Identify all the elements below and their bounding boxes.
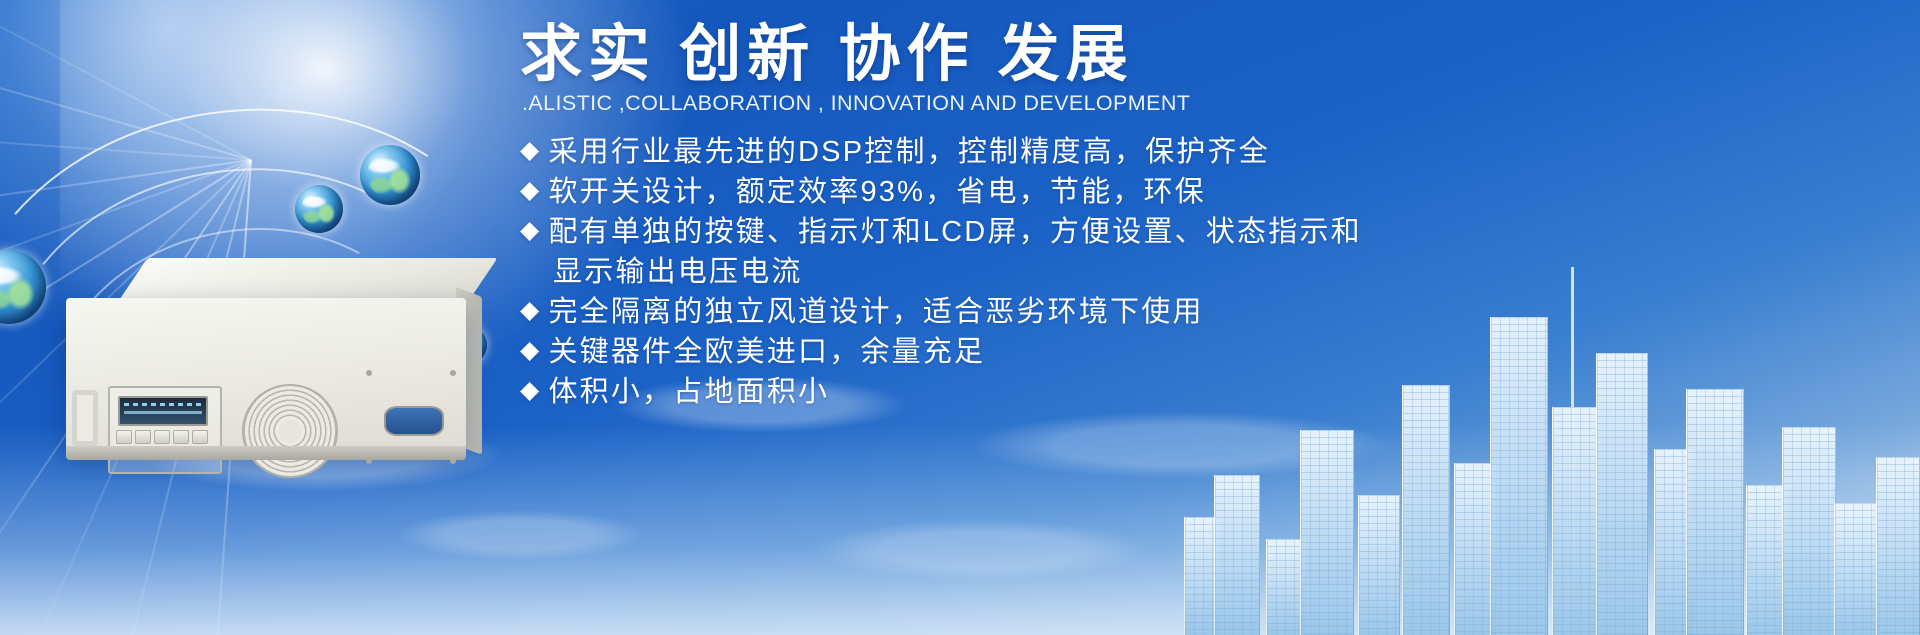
rack-mount-power-supply: [58, 258, 498, 518]
list-item-label: 体积小，占地面积小: [548, 372, 829, 412]
device-base: [66, 446, 466, 460]
diamond-bullet-icon: ◆: [520, 212, 541, 250]
list-item-label: 显示输出电压电流: [553, 252, 803, 292]
keypad-key: [173, 430, 189, 444]
list-item-continuation: ◆ 显示输出电压电流: [520, 252, 1850, 292]
list-item-label: 配有单独的按键、指示灯和LCD屏，方便设置、状态指示和: [548, 212, 1361, 252]
promo-banner: 求实 创新 协作 发展 .ALISTIC ,COLLABORATION , IN…: [0, 0, 1920, 635]
list-item: ◆ 采用行业最先进的DSP控制，控制精度高，保护齐全: [520, 132, 1850, 172]
keypad-key: [192, 430, 208, 444]
list-item-label: 完全隔离的独立风道设计，适合恶劣环境下使用: [548, 292, 1203, 332]
list-item-label: 关键器件全欧美进口，余量充足: [548, 332, 985, 372]
diamond-bullet-icon: ◆: [520, 332, 541, 370]
globe-icon: [0, 250, 46, 324]
diamond-bullet-icon: ◆: [520, 132, 541, 170]
lcd-display: [118, 396, 208, 426]
diamond-bullet-icon: ◆: [520, 172, 541, 210]
diamond-bullet-icon: ◆: [520, 372, 541, 410]
list-item-label: 软开关设计，额定效率93%，省电，节能，环保: [548, 172, 1205, 212]
list-item: ◆ 完全隔离的独立风道设计，适合恶劣环境下使用: [520, 292, 1850, 332]
page-title: 求实 创新 协作 发展: [520, 22, 1850, 89]
list-item: ◆ 软开关设计，额定效率93%，省电，节能，环保: [520, 172, 1850, 212]
keypad-key: [154, 430, 170, 444]
list-item-label: 采用行业最先进的DSP控制，控制精度高，保护齐全: [548, 132, 1269, 172]
banner-copy: 求实 创新 协作 发展 .ALISTIC ,COLLABORATION , IN…: [520, 22, 1850, 412]
keypad-key: [116, 430, 132, 444]
keypad-key: [135, 430, 151, 444]
list-item: ◆ 体积小，占地面积小: [520, 372, 1850, 412]
device-front-panel: [66, 298, 466, 450]
panel-screw: [450, 370, 456, 376]
list-item: ◆ 关键器件全欧美进口，余量充足: [520, 332, 1850, 372]
feature-list: ◆ 采用行业最先进的DSP控制，控制精度高，保护齐全 ◆ 软开关设计，额定效率9…: [520, 132, 1850, 412]
diamond-bullet-icon: ◆: [520, 292, 541, 330]
vga-port: [384, 406, 444, 436]
panel-screw: [366, 370, 372, 376]
subtitle: .ALISTIC ,COLLABORATION , INNOVATION AND…: [522, 91, 1850, 116]
rack-handle: [72, 390, 98, 446]
cooling-fan-grille: [242, 384, 338, 478]
list-item: ◆ 配有单独的按键、指示灯和LCD屏，方便设置、状态指示和: [520, 212, 1850, 252]
